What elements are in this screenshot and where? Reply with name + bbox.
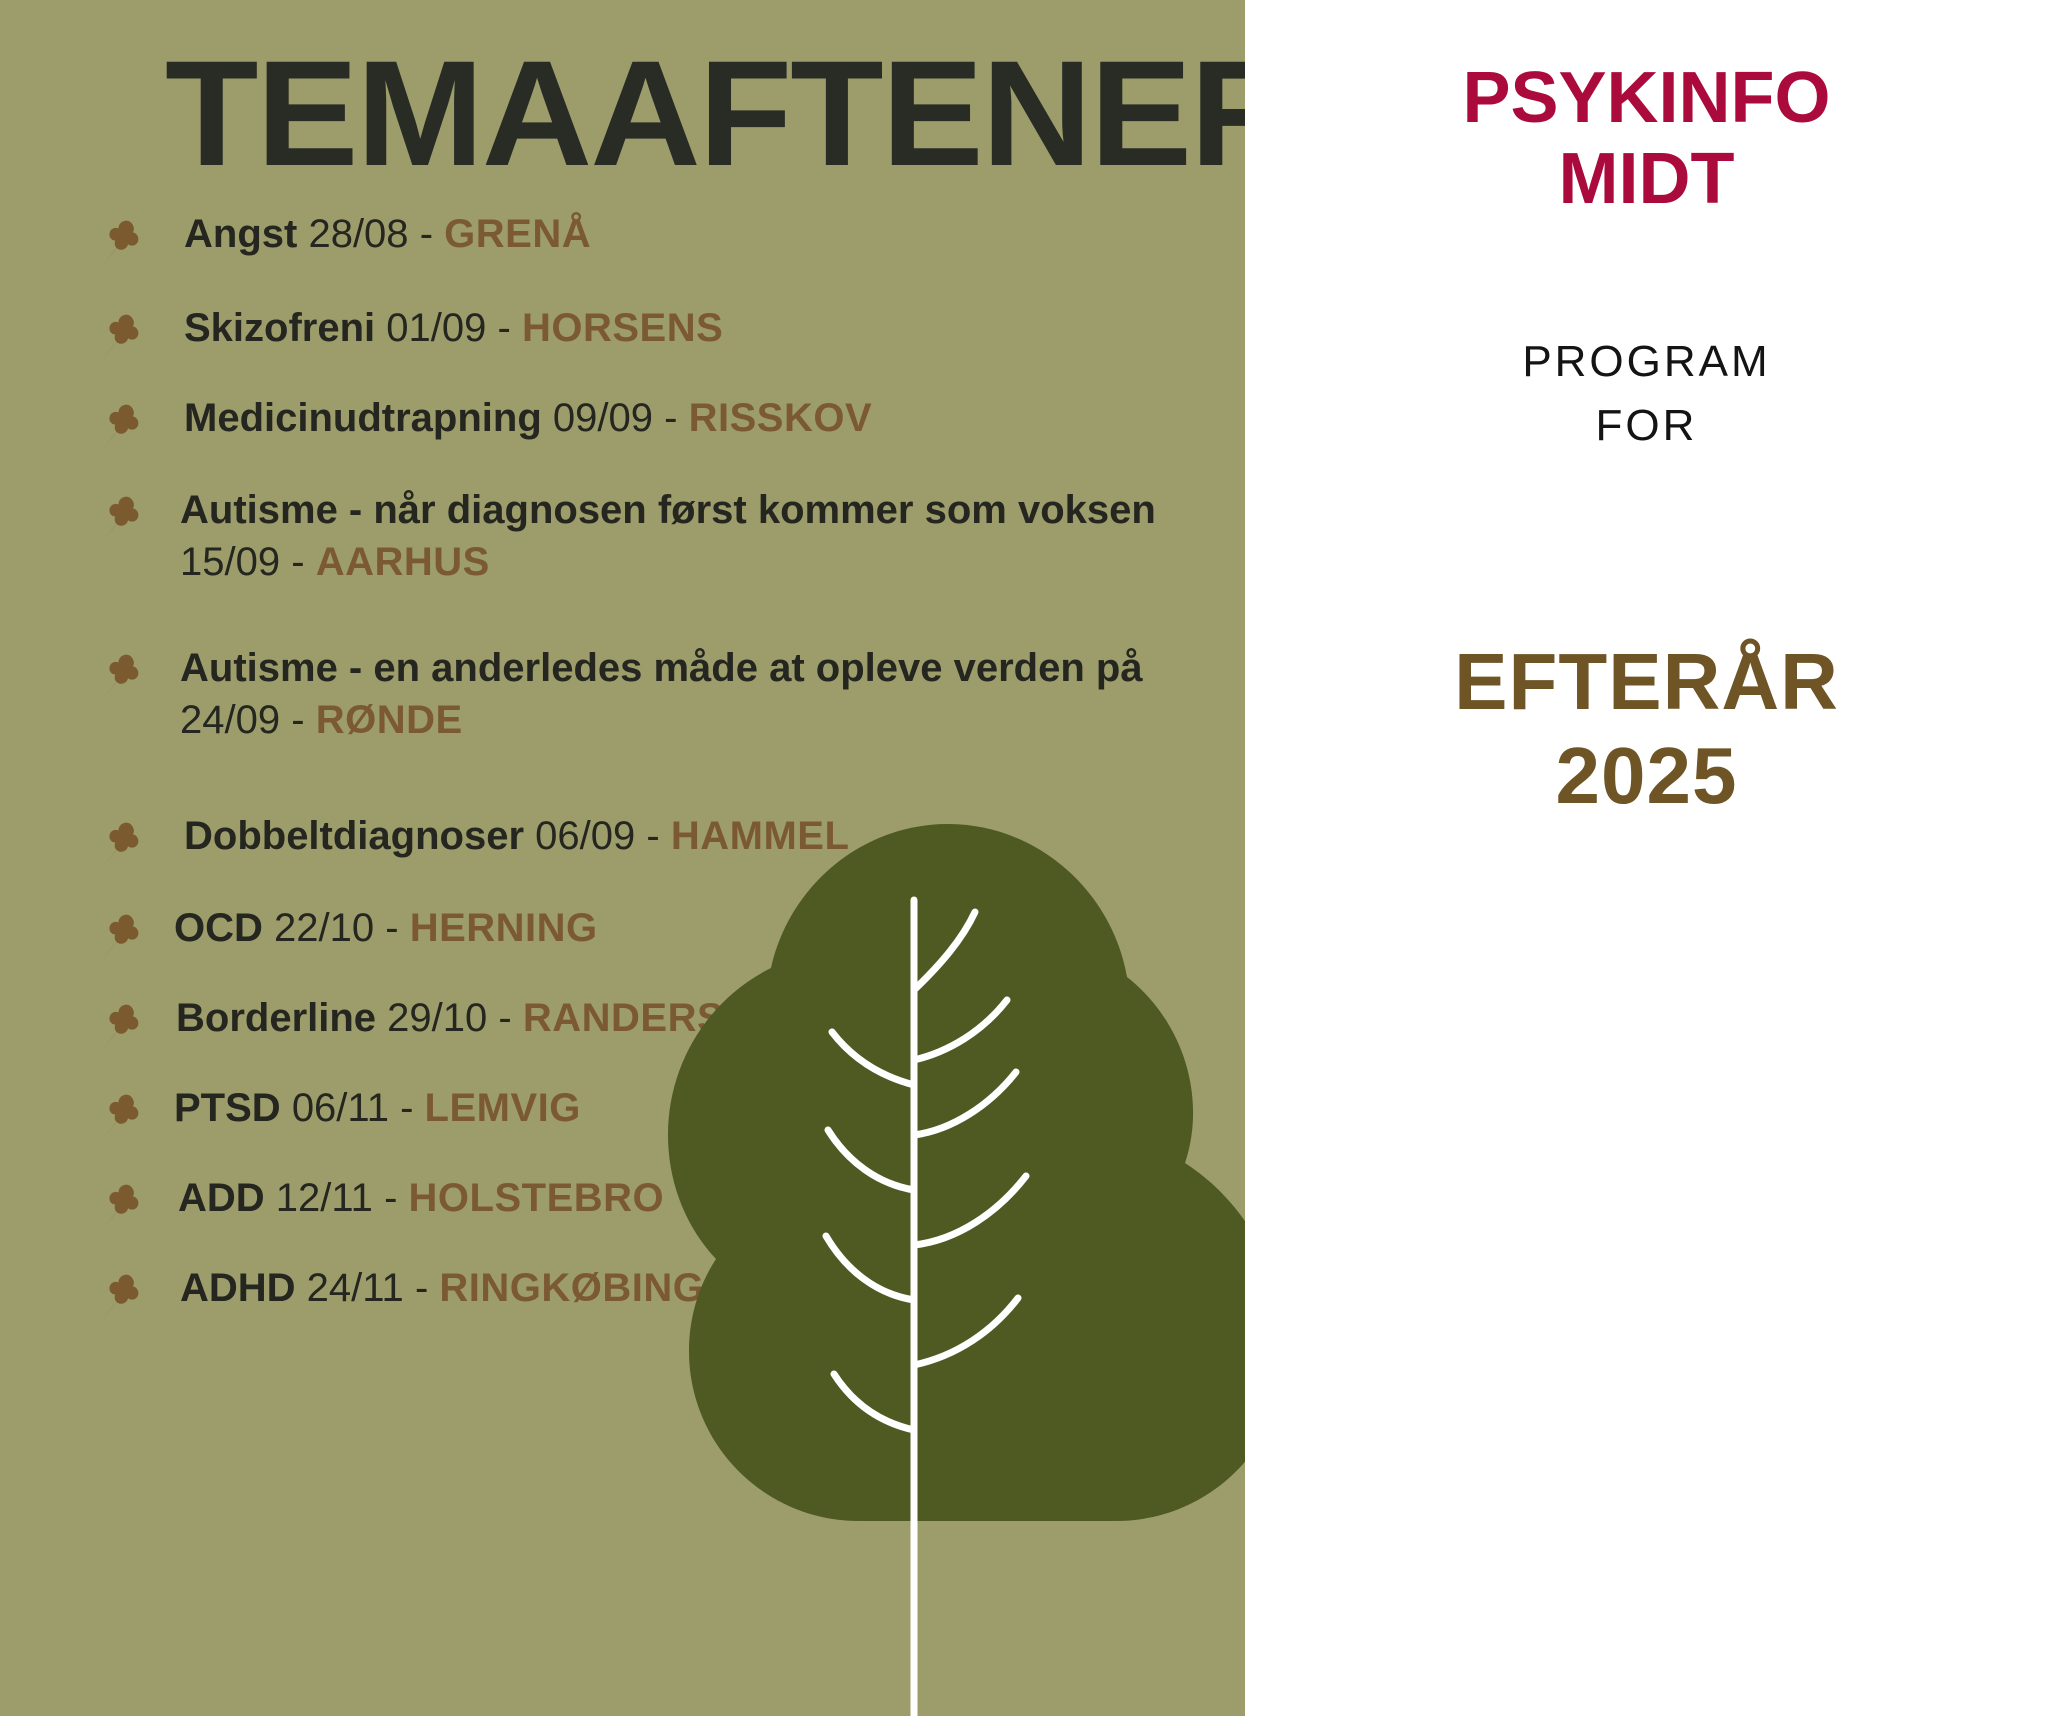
pushpin-icon (88, 396, 150, 458)
event-place: HERNING (410, 906, 598, 950)
event-date: 06/09 (535, 814, 635, 858)
pushpin-icon (88, 306, 150, 368)
event-separator: - (646, 814, 659, 858)
list-item-text: Angst 28/08 - GRENÅ (184, 206, 1228, 260)
event-date: 29/10 (387, 996, 487, 1040)
list-item-text: ADHD 24/11 - RINGKØBING (180, 1260, 1228, 1314)
list-item[interactable]: Skizofreni 01/09 - HORSENS (88, 300, 1228, 390)
list-item-text: Borderline 29/10 - RANDERS (176, 990, 1228, 1044)
list-item-text: Dobbeltdiagnoser 06/09 - HAMMEL (184, 808, 1228, 862)
event-date: 22/10 (274, 906, 374, 950)
list-item[interactable]: PTSD 06/11 - LEMVIG (88, 1080, 1228, 1170)
list-item[interactable]: Dobbeltdiagnoser 06/09 - HAMMEL (88, 808, 1228, 900)
event-separator: - (291, 698, 304, 742)
event-topic: Borderline (176, 996, 376, 1040)
event-place: HOLSTEBRO (409, 1176, 665, 1220)
pushpin-icon (88, 814, 150, 876)
pushpin-icon (88, 1176, 150, 1238)
event-separator: - (400, 1086, 413, 1130)
season-line-1: EFTERÅR (1245, 635, 2048, 729)
event-separator: - (384, 1176, 397, 1220)
event-list: Angst 28/08 - GRENÅ Skizofreni 01/09 - H… (88, 206, 1228, 1350)
event-separator: - (664, 396, 677, 440)
brand-line-1: PSYKINFO (1462, 58, 1830, 138)
event-topic: Angst (184, 212, 297, 256)
event-topic: ADHD (180, 1266, 296, 1310)
list-item[interactable]: Medicinudtrapning 09/09 - RISSKOV (88, 390, 1228, 482)
pushpin-icon (88, 646, 150, 708)
event-date: 24/09 (180, 698, 280, 742)
list-item[interactable]: ADD 12/11 - HOLSTEBRO (88, 1170, 1228, 1260)
pushpin-icon (88, 488, 150, 550)
program-subtitle: PROGRAM FOR (1245, 330, 2048, 458)
brand-logo: PSYKINFO MIDT (1245, 58, 2048, 219)
pushpin-icon (88, 212, 150, 274)
event-place: HAMMEL (671, 814, 850, 858)
event-place: RISSKOV (689, 396, 873, 440)
event-date: 09/09 (553, 396, 653, 440)
event-topic: Skizofreni (184, 306, 375, 350)
season-label: EFTERÅR 2025 (1245, 635, 2048, 824)
event-date: 01/09 (386, 306, 486, 350)
list-item-text: Skizofreni 01/09 - HORSENS (184, 300, 1228, 354)
event-separator: - (291, 540, 304, 584)
page-title: TEMAAFTENER (165, 38, 1299, 188)
list-item[interactable]: Angst 28/08 - GRENÅ (88, 206, 1228, 300)
event-date: 12/11 (276, 1176, 373, 1220)
pushpin-icon (88, 1086, 150, 1148)
list-item-text: OCD 22/10 - HERNING (174, 900, 1228, 954)
event-place: HORSENS (522, 306, 723, 350)
list-item-text: Autisme - en anderledes måde at opleve v… (180, 640, 1228, 746)
event-place: GRENÅ (444, 212, 591, 256)
list-item[interactable]: ADHD 24/11 - RINGKØBING (88, 1260, 1228, 1350)
list-item[interactable]: Autisme - en anderledes måde at opleve v… (88, 640, 1228, 808)
pushpin-icon (88, 1266, 150, 1328)
event-place: RANDERS (523, 996, 724, 1040)
brand-line-2: MIDT (1245, 139, 2048, 220)
event-separator: - (385, 906, 398, 950)
program-line-2: FOR (1245, 394, 2048, 458)
event-topic: OCD (174, 906, 263, 950)
event-date: 24/11 (307, 1266, 404, 1310)
event-topic: ADD (178, 1176, 265, 1220)
list-item[interactable]: Autisme - når diagnosen først kommer som… (88, 482, 1228, 640)
event-date: 15/09 (180, 540, 280, 584)
pushpin-icon (88, 906, 150, 968)
event-topic: Autisme - en anderledes måde at opleve v… (180, 646, 1143, 690)
event-date: 06/11 (292, 1086, 389, 1130)
season-line-2: 2025 (1245, 729, 2048, 823)
list-item[interactable]: Borderline 29/10 - RANDERS (88, 990, 1228, 1080)
event-topic: Medicinudtrapning (184, 396, 542, 440)
event-separator: - (420, 212, 433, 256)
event-separator: - (498, 996, 511, 1040)
list-item-text: PTSD 06/11 - LEMVIG (174, 1080, 1228, 1134)
list-item-text: ADD 12/11 - HOLSTEBRO (178, 1170, 1228, 1224)
event-place: AARHUS (316, 540, 490, 584)
event-place: RINGKØBING (439, 1266, 704, 1310)
event-place: LEMVIG (425, 1086, 581, 1130)
event-date: 28/08 (308, 212, 408, 256)
list-item[interactable]: OCD 22/10 - HERNING (88, 900, 1228, 990)
list-item-text: Autisme - når diagnosen først kommer som… (180, 482, 1228, 588)
event-topic: Autisme - når diagnosen først kommer som… (180, 488, 1156, 532)
event-separator: - (498, 306, 511, 350)
list-item-text: Medicinudtrapning 09/09 - RISSKOV (184, 390, 1228, 444)
event-place: RØNDE (316, 698, 463, 742)
pushpin-icon (88, 996, 150, 1058)
event-separator: - (415, 1266, 428, 1310)
event-topic: PTSD (174, 1086, 281, 1130)
event-topic: Dobbeltdiagnoser (184, 814, 524, 858)
program-line-1: PROGRAM (1245, 330, 2048, 394)
right-sidebar: PSYKINFO MIDT PROGRAM FOR EFTERÅR 2025 (1245, 0, 2048, 1716)
poster-canvas: TEMAAFTENER Angst 28/08 - GRENÅ Skizofre… (0, 0, 2048, 1716)
